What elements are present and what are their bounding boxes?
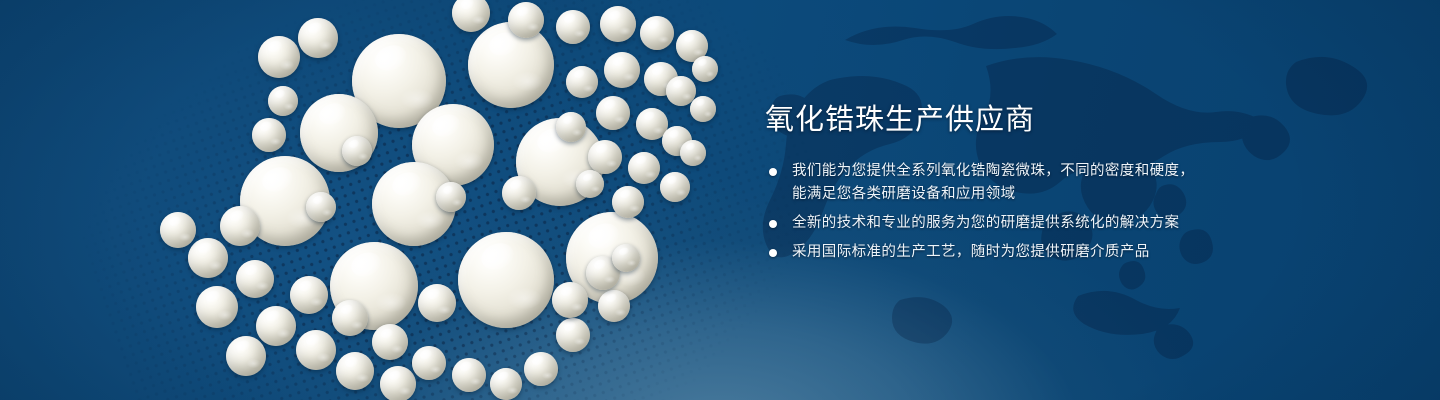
ceramic-bead xyxy=(598,290,630,322)
ceramic-bead xyxy=(524,352,558,386)
ceramic-bead xyxy=(226,336,266,376)
ceramic-bead xyxy=(372,324,408,360)
ceramic-bead xyxy=(256,306,296,346)
ceramic-bead xyxy=(628,152,660,184)
feature-bullet-line: 全新的技术和专业的服务为您的研磨提供系统化的解决方案 xyxy=(792,212,1232,235)
ceramic-bead xyxy=(452,0,490,32)
ceramic-bead xyxy=(690,96,716,122)
hero-banner: 氧化锆珠生产供应商 我们能为您提供全系列氧化锆陶瓷微珠，不同的密度和硬度，能满足… xyxy=(0,0,1440,400)
ceramic-bead xyxy=(296,330,336,370)
feature-bullet-line: 我们能为您提供全系列氧化锆陶瓷微珠，不同的密度和硬度， xyxy=(792,160,1232,183)
ceramic-bead xyxy=(680,140,706,166)
ceramic-bead xyxy=(604,52,640,88)
ceramic-bead xyxy=(552,282,588,318)
ceramic-bead xyxy=(556,318,590,352)
feature-bullet-item: 我们能为您提供全系列氧化锆陶瓷微珠，不同的密度和硬度，能满足您各类研磨设备和应用… xyxy=(762,160,1232,206)
ceramic-bead xyxy=(468,22,554,108)
ceramic-bead xyxy=(692,56,718,82)
ceramic-bead xyxy=(298,18,338,58)
bullet-dot-icon xyxy=(769,249,777,257)
ceramic-bead xyxy=(640,16,674,50)
feature-bullet-line: 采用国际标准的生产工艺，随时为您提供研磨介质产品 xyxy=(792,241,1232,264)
ceramic-bead xyxy=(412,346,446,380)
ceramic-bead xyxy=(268,86,298,116)
ceramic-bead xyxy=(588,140,622,174)
ceramic-bead xyxy=(332,300,368,336)
ceramic-bead xyxy=(556,112,586,142)
feature-bullet-item: 采用国际标准的生产工艺，随时为您提供研磨介质产品 xyxy=(762,241,1232,264)
ceramic-bead xyxy=(196,286,238,328)
bullet-dot-icon xyxy=(769,220,777,228)
ceramic-bead xyxy=(160,212,196,248)
ceramic-bead xyxy=(380,366,416,400)
ceramic-bead xyxy=(252,118,286,152)
ceramic-bead xyxy=(660,172,690,202)
ceramic-bead xyxy=(258,36,300,78)
ceramic-bead xyxy=(458,232,554,328)
ceramic-bead xyxy=(306,192,336,222)
feature-bullet-line: 能满足您各类研磨设备和应用领域 xyxy=(792,183,1232,206)
ceramic-bead xyxy=(508,2,544,38)
ceramic-bead xyxy=(612,186,644,218)
banner-text-block: 氧化锆珠生产供应商 我们能为您提供全系列氧化锆陶瓷微珠，不同的密度和硬度，能满足… xyxy=(762,104,1232,264)
ceramic-bead xyxy=(418,284,456,322)
ceramic-bead xyxy=(612,244,640,272)
zirconia-beads-image xyxy=(0,0,760,400)
ceramic-bead xyxy=(600,6,636,42)
ceramic-bead xyxy=(336,352,374,390)
ceramic-bead xyxy=(436,182,466,212)
ceramic-bead xyxy=(502,176,536,210)
ceramic-bead xyxy=(236,260,274,298)
ceramic-bead xyxy=(452,358,486,392)
banner-headline: 氧化锆珠生产供应商 xyxy=(765,104,1232,138)
bullet-dot-icon xyxy=(769,168,777,176)
ceramic-bead xyxy=(220,206,260,246)
ceramic-bead xyxy=(188,238,228,278)
ceramic-bead xyxy=(566,66,598,98)
ceramic-bead xyxy=(556,10,590,44)
feature-bullet-item: 全新的技术和专业的服务为您的研磨提供系统化的解决方案 xyxy=(762,212,1232,235)
ceramic-bead xyxy=(596,96,630,130)
feature-bullet-list: 我们能为您提供全系列氧化锆陶瓷微珠，不同的密度和硬度，能满足您各类研磨设备和应用… xyxy=(762,160,1232,264)
ceramic-bead xyxy=(490,368,522,400)
ceramic-bead xyxy=(342,136,372,166)
ceramic-bead xyxy=(290,276,328,314)
ceramic-bead xyxy=(576,170,604,198)
